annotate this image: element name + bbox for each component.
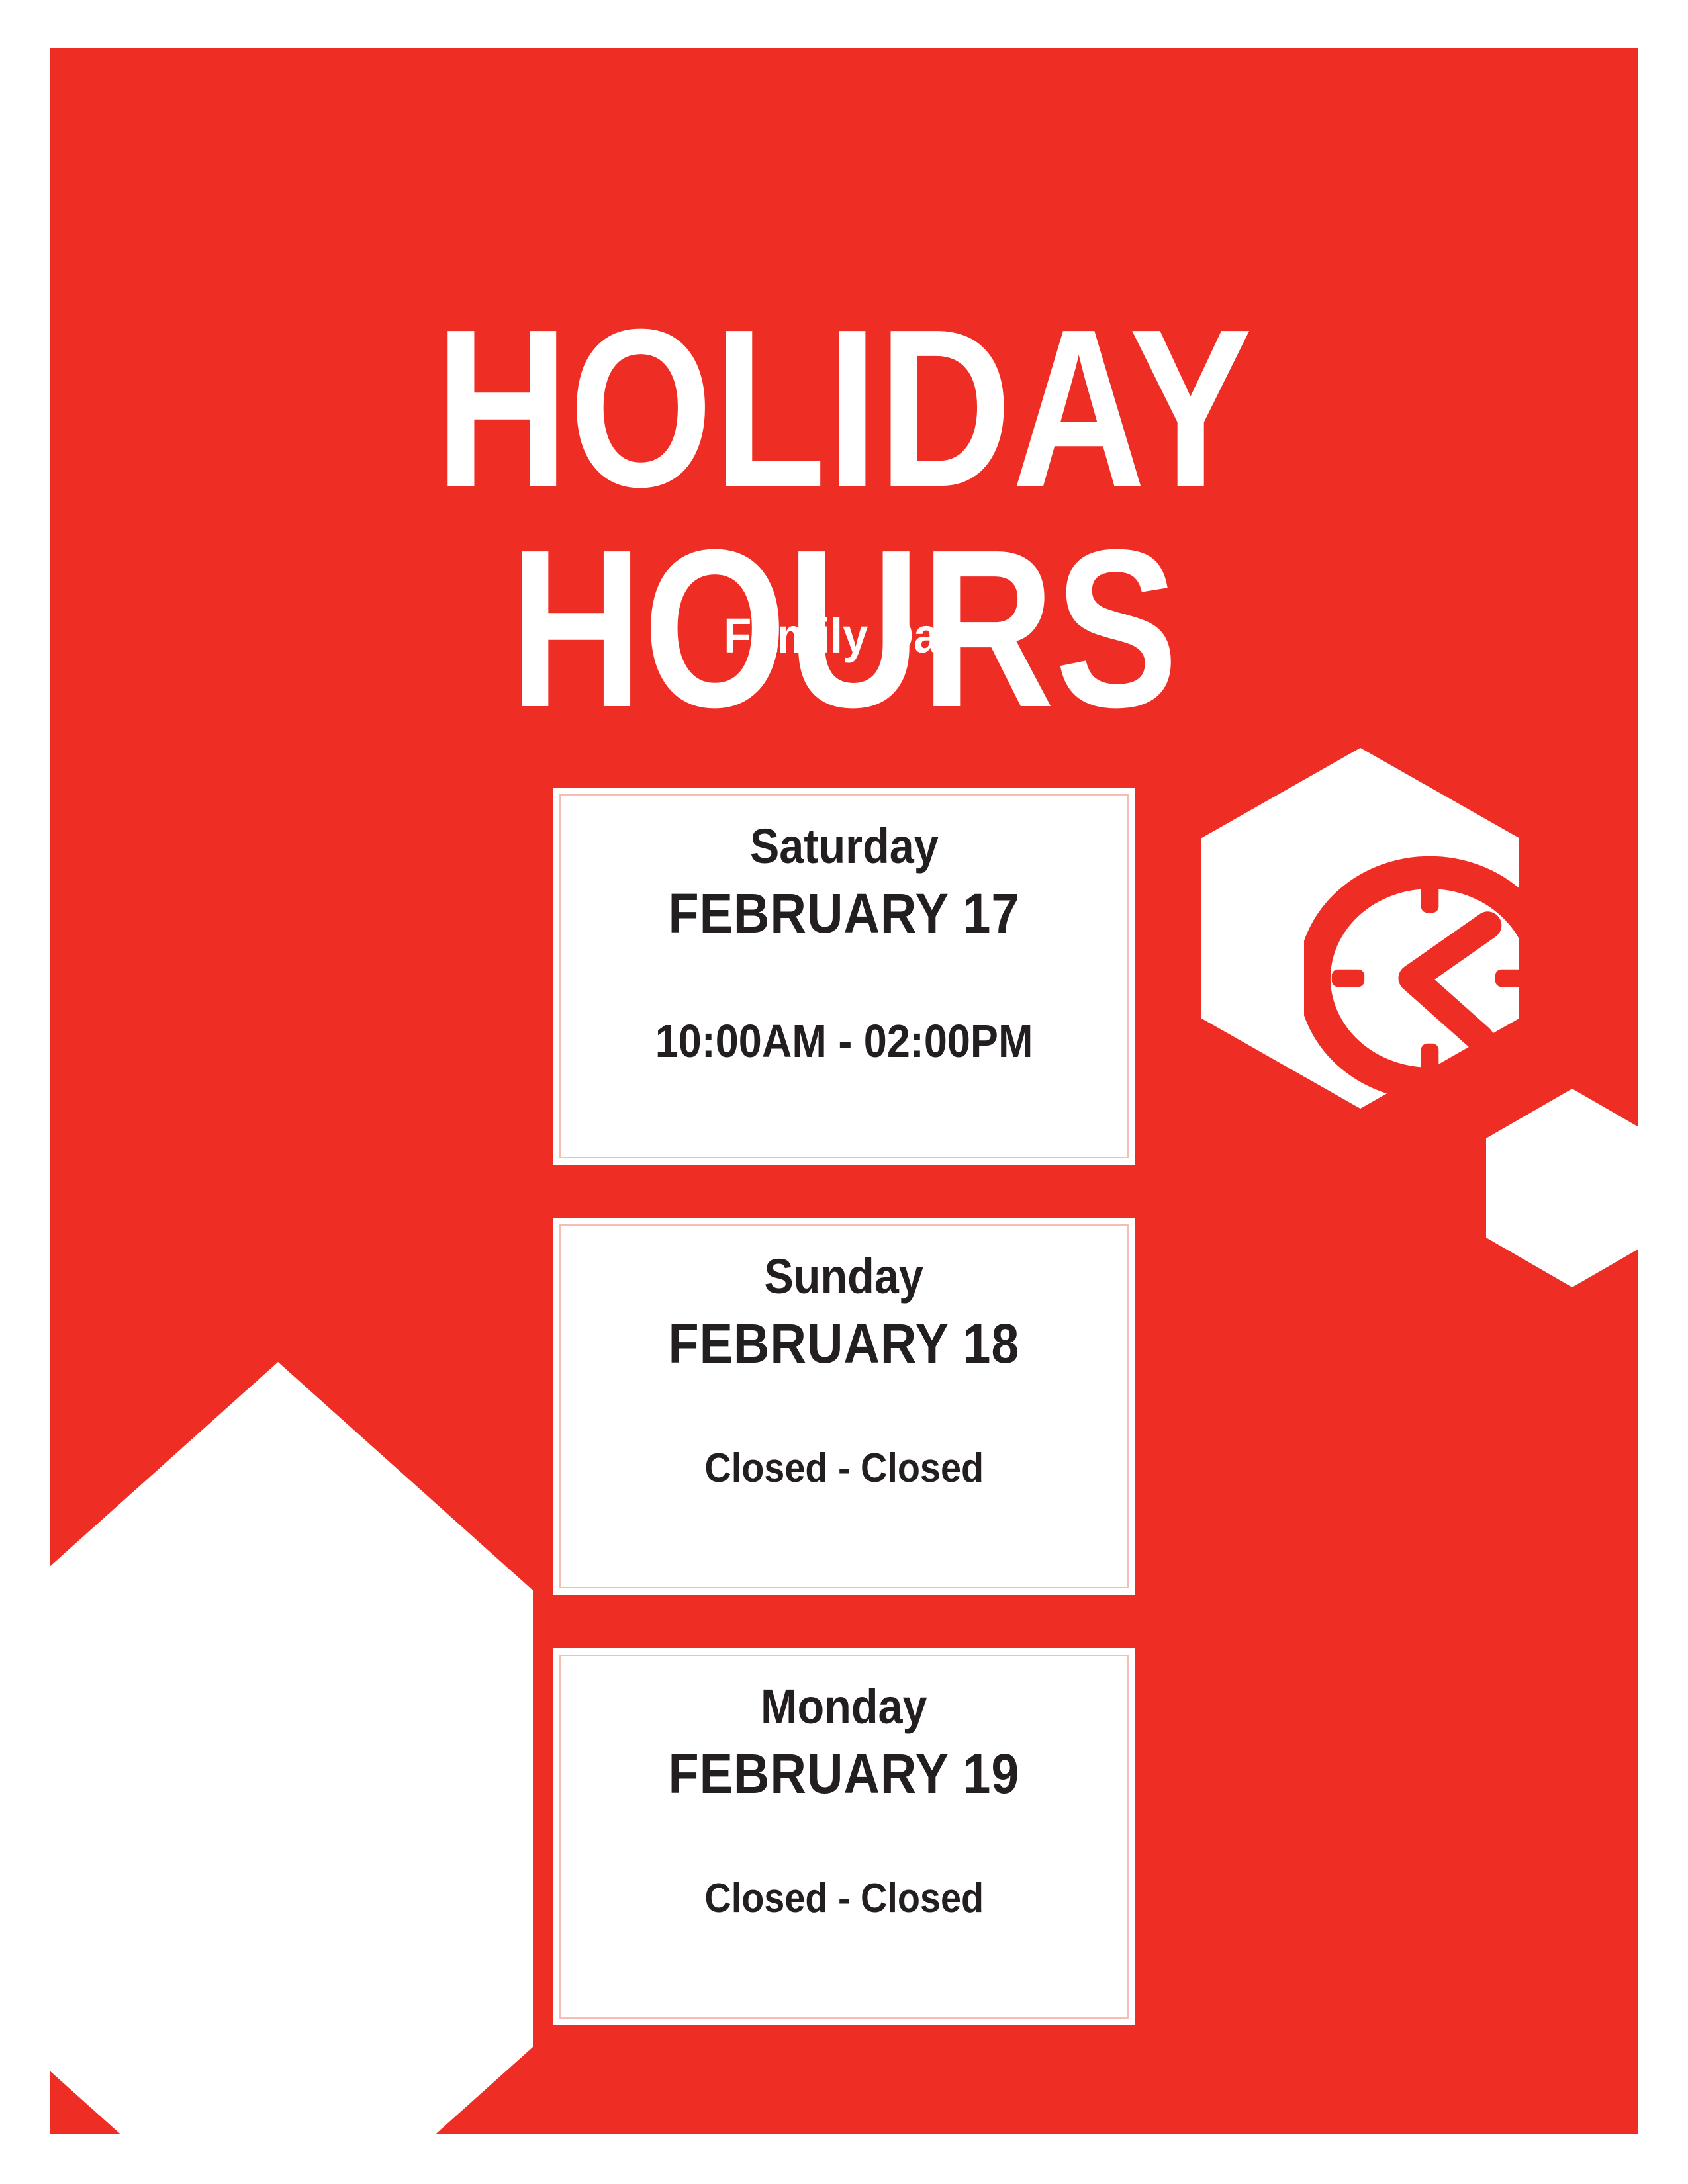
card-hours: Closed - Closed [704, 1878, 984, 1919]
hexagon-decoration-small [1486, 1089, 1638, 1287]
card-date: FEBRUARY 18 [669, 1316, 1020, 1371]
card-weekday: Sunday [765, 1252, 924, 1301]
clock-icon [1304, 852, 1556, 1104]
holiday-hours-poster: HOLIDAY HOURS Family Day Saturday FEBRUA… [0, 0, 1688, 2184]
schedule-card-monday: Monday FEBRUARY 19 Closed - Closed [553, 1648, 1135, 2025]
schedule-card-saturday: Saturday FEBRUARY 17 10:00AM - 02:00PM [553, 788, 1135, 1165]
card-date: FEBRUARY 17 [669, 886, 1020, 941]
schedule-list: Saturday FEBRUARY 17 10:00AM - 02:00PM S… [553, 788, 1135, 2078]
poster-red-panel: HOLIDAY HOURS Family Day Saturday FEBRUA… [50, 48, 1638, 2134]
hexagon-decoration-bottom-left [50, 1362, 533, 2134]
card-hours: 10:00AM - 02:00PM [655, 1018, 1033, 1064]
card-date: FEBRUARY 19 [669, 1746, 1020, 1801]
page-title: HOLIDAY HOURS [193, 298, 1495, 739]
schedule-card-sunday: Sunday FEBRUARY 18 Closed - Closed [553, 1218, 1135, 1595]
card-hours: Closed - Closed [704, 1448, 984, 1489]
card-weekday: Monday [761, 1682, 927, 1731]
title-line-1: HOLIDAY [193, 298, 1495, 519]
page-subtitle: Family Day [105, 608, 1583, 664]
card-weekday: Saturday [749, 822, 938, 871]
